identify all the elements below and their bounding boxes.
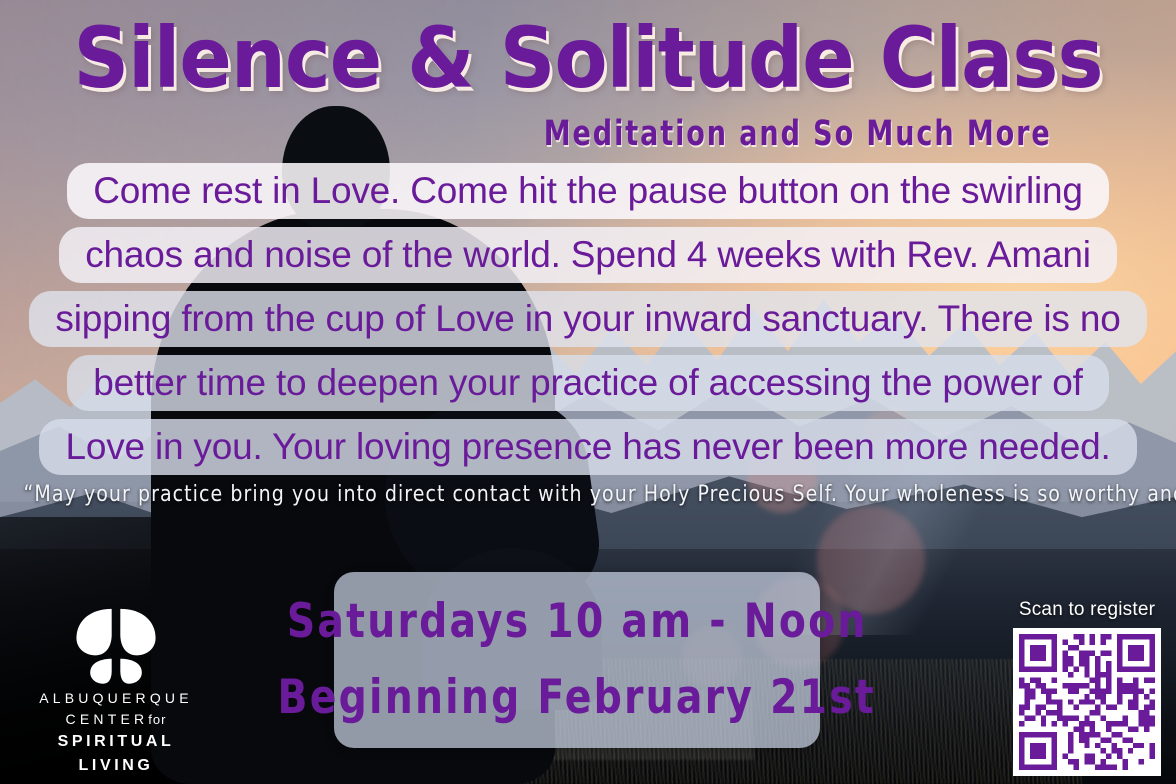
testimonial-quote: “May your practice bring you into direct… (24, 482, 1153, 507)
logo-center-word: CENTER (66, 711, 149, 727)
poster-title: Silence & Solitude Class (47, 14, 1129, 102)
body-line: sipping from the cup of Love in your inw… (0, 291, 1176, 355)
logo-for-word: for (148, 712, 166, 727)
qr-registration-block: Scan to register (1004, 599, 1170, 776)
qr-label: Scan to register (1004, 599, 1170, 621)
flyer-poster: Silence & Solitude Class Meditation and … (0, 0, 1176, 784)
schedule-card: Saturdays 10 am - Noon Beginning Februar… (334, 572, 820, 748)
body-line-text: sipping from the cup of Love in your inw… (29, 291, 1146, 347)
poster-subtitle: Meditation and So Much More (544, 114, 1052, 154)
body-line: better time to deepen your practice of a… (0, 355, 1176, 419)
schedule-time: Saturdays 10 am - Noon (287, 584, 868, 660)
schedule-start-date: Beginning February 21st (278, 660, 876, 736)
butterfly-leaf-icon (18, 602, 214, 688)
qr-code-icon (1019, 634, 1155, 770)
body-line-text: Come rest in Love. Come hit the pause bu… (67, 163, 1109, 219)
body-line-text: better time to deepen your practice of a… (67, 355, 1108, 411)
body-line-text: Love in you. Your loving presence has ne… (39, 419, 1136, 475)
organization-logo: ALBUQUERQUE CENTERfor SPIRITUAL LIVING (18, 602, 214, 778)
body-line: Love in you. Your loving presence has ne… (0, 419, 1176, 483)
poster-content: Silence & Solitude Class Meditation and … (0, 0, 1176, 784)
qr-code[interactable] (1013, 628, 1161, 776)
body-line: chaos and noise of the world. Spend 4 we… (0, 227, 1176, 291)
logo-line-center-for: CENTERfor (18, 709, 214, 730)
body-line-text: chaos and noise of the world. Spend 4 we… (59, 227, 1117, 283)
body-line: Come rest in Love. Come hit the pause bu… (0, 163, 1176, 227)
logo-line-albuquerque: ALBUQUERQUE (18, 688, 214, 709)
logo-line-spiritual-living: SPIRITUAL LIVING (18, 730, 214, 778)
body-paragraph: Come rest in Love. Come hit the pause bu… (0, 163, 1176, 483)
